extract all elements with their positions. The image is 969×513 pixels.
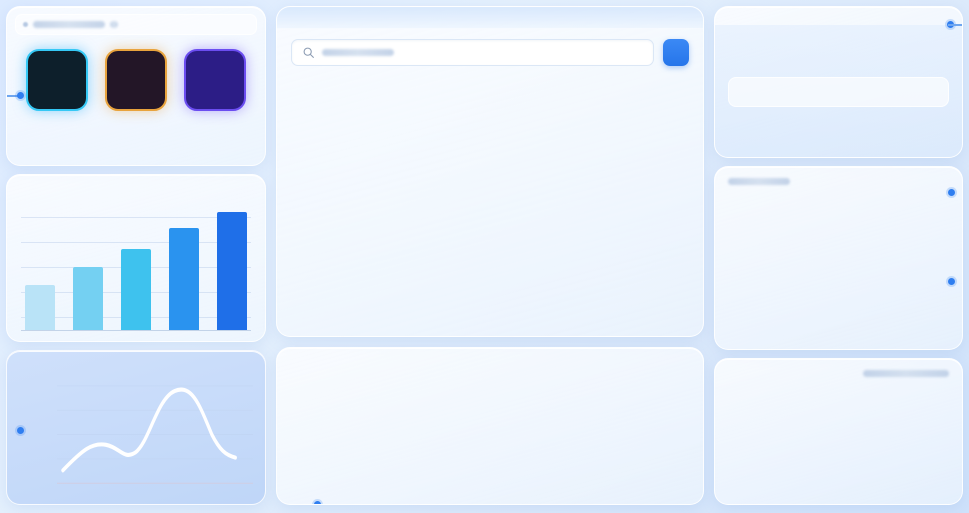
connector-line <box>948 24 963 26</box>
search-placeholder <box>322 49 643 56</box>
efficiency-eyebrow-text <box>863 370 949 377</box>
photoshop-icon[interactable] <box>26 49 88 111</box>
monitor-body <box>277 29 703 336</box>
app-tile-after-effects[interactable] <box>179 49 251 119</box>
usage-bar-chart <box>21 199 251 331</box>
search-button[interactable] <box>663 39 689 66</box>
bar-item <box>217 212 247 330</box>
search-input[interactable] <box>291 39 654 66</box>
trend-panel <box>6 350 266 505</box>
efficiency-panel <box>714 358 963 505</box>
efficiency-header <box>728 370 949 377</box>
y-axis-labels <box>19 368 57 496</box>
tabbar-placeholder-text <box>33 21 105 28</box>
bar-item <box>73 267 103 330</box>
roi-subtitle <box>728 77 949 107</box>
search-row <box>291 39 689 66</box>
search-icon <box>302 46 315 59</box>
connector-dot <box>314 501 321 505</box>
monitor-panel <box>276 6 704 337</box>
connector-dot <box>948 278 955 285</box>
apps-tabbar[interactable] <box>15 14 257 35</box>
strategy-panel <box>276 347 704 505</box>
after-effects-icon[interactable] <box>184 49 246 111</box>
trend-plot-area <box>57 368 253 496</box>
monitor-header <box>277 7 703 29</box>
design-apps-panel <box>6 6 266 166</box>
roi-panel <box>714 6 963 158</box>
tabbar-close-icon[interactable] <box>110 21 118 28</box>
middle-column <box>272 2 710 511</box>
app-tile-photoshop[interactable] <box>21 49 93 119</box>
dashboard-root <box>0 0 969 513</box>
connector-dot <box>17 427 24 434</box>
left-column <box>0 2 272 511</box>
connector-dot <box>17 92 24 99</box>
trend-chart <box>19 368 253 496</box>
roi-body <box>715 25 962 157</box>
roi-header <box>715 7 962 25</box>
app-tile-list <box>7 35 265 119</box>
advice-panel <box>714 166 963 350</box>
app-tile-premiere[interactable] <box>100 49 172 119</box>
usage-time-panel <box>6 174 266 342</box>
x-axis-labels <box>728 495 949 497</box>
tabbar-dot-icon <box>23 22 28 27</box>
bar-item <box>25 285 55 330</box>
advice-eyebrow-text <box>728 178 790 185</box>
right-column <box>710 2 969 511</box>
efficiency-line-chart <box>728 383 949 495</box>
bar-item <box>121 249 151 330</box>
bar-item <box>169 228 199 330</box>
connector-dot <box>948 189 955 196</box>
premiere-icon[interactable] <box>105 49 167 111</box>
